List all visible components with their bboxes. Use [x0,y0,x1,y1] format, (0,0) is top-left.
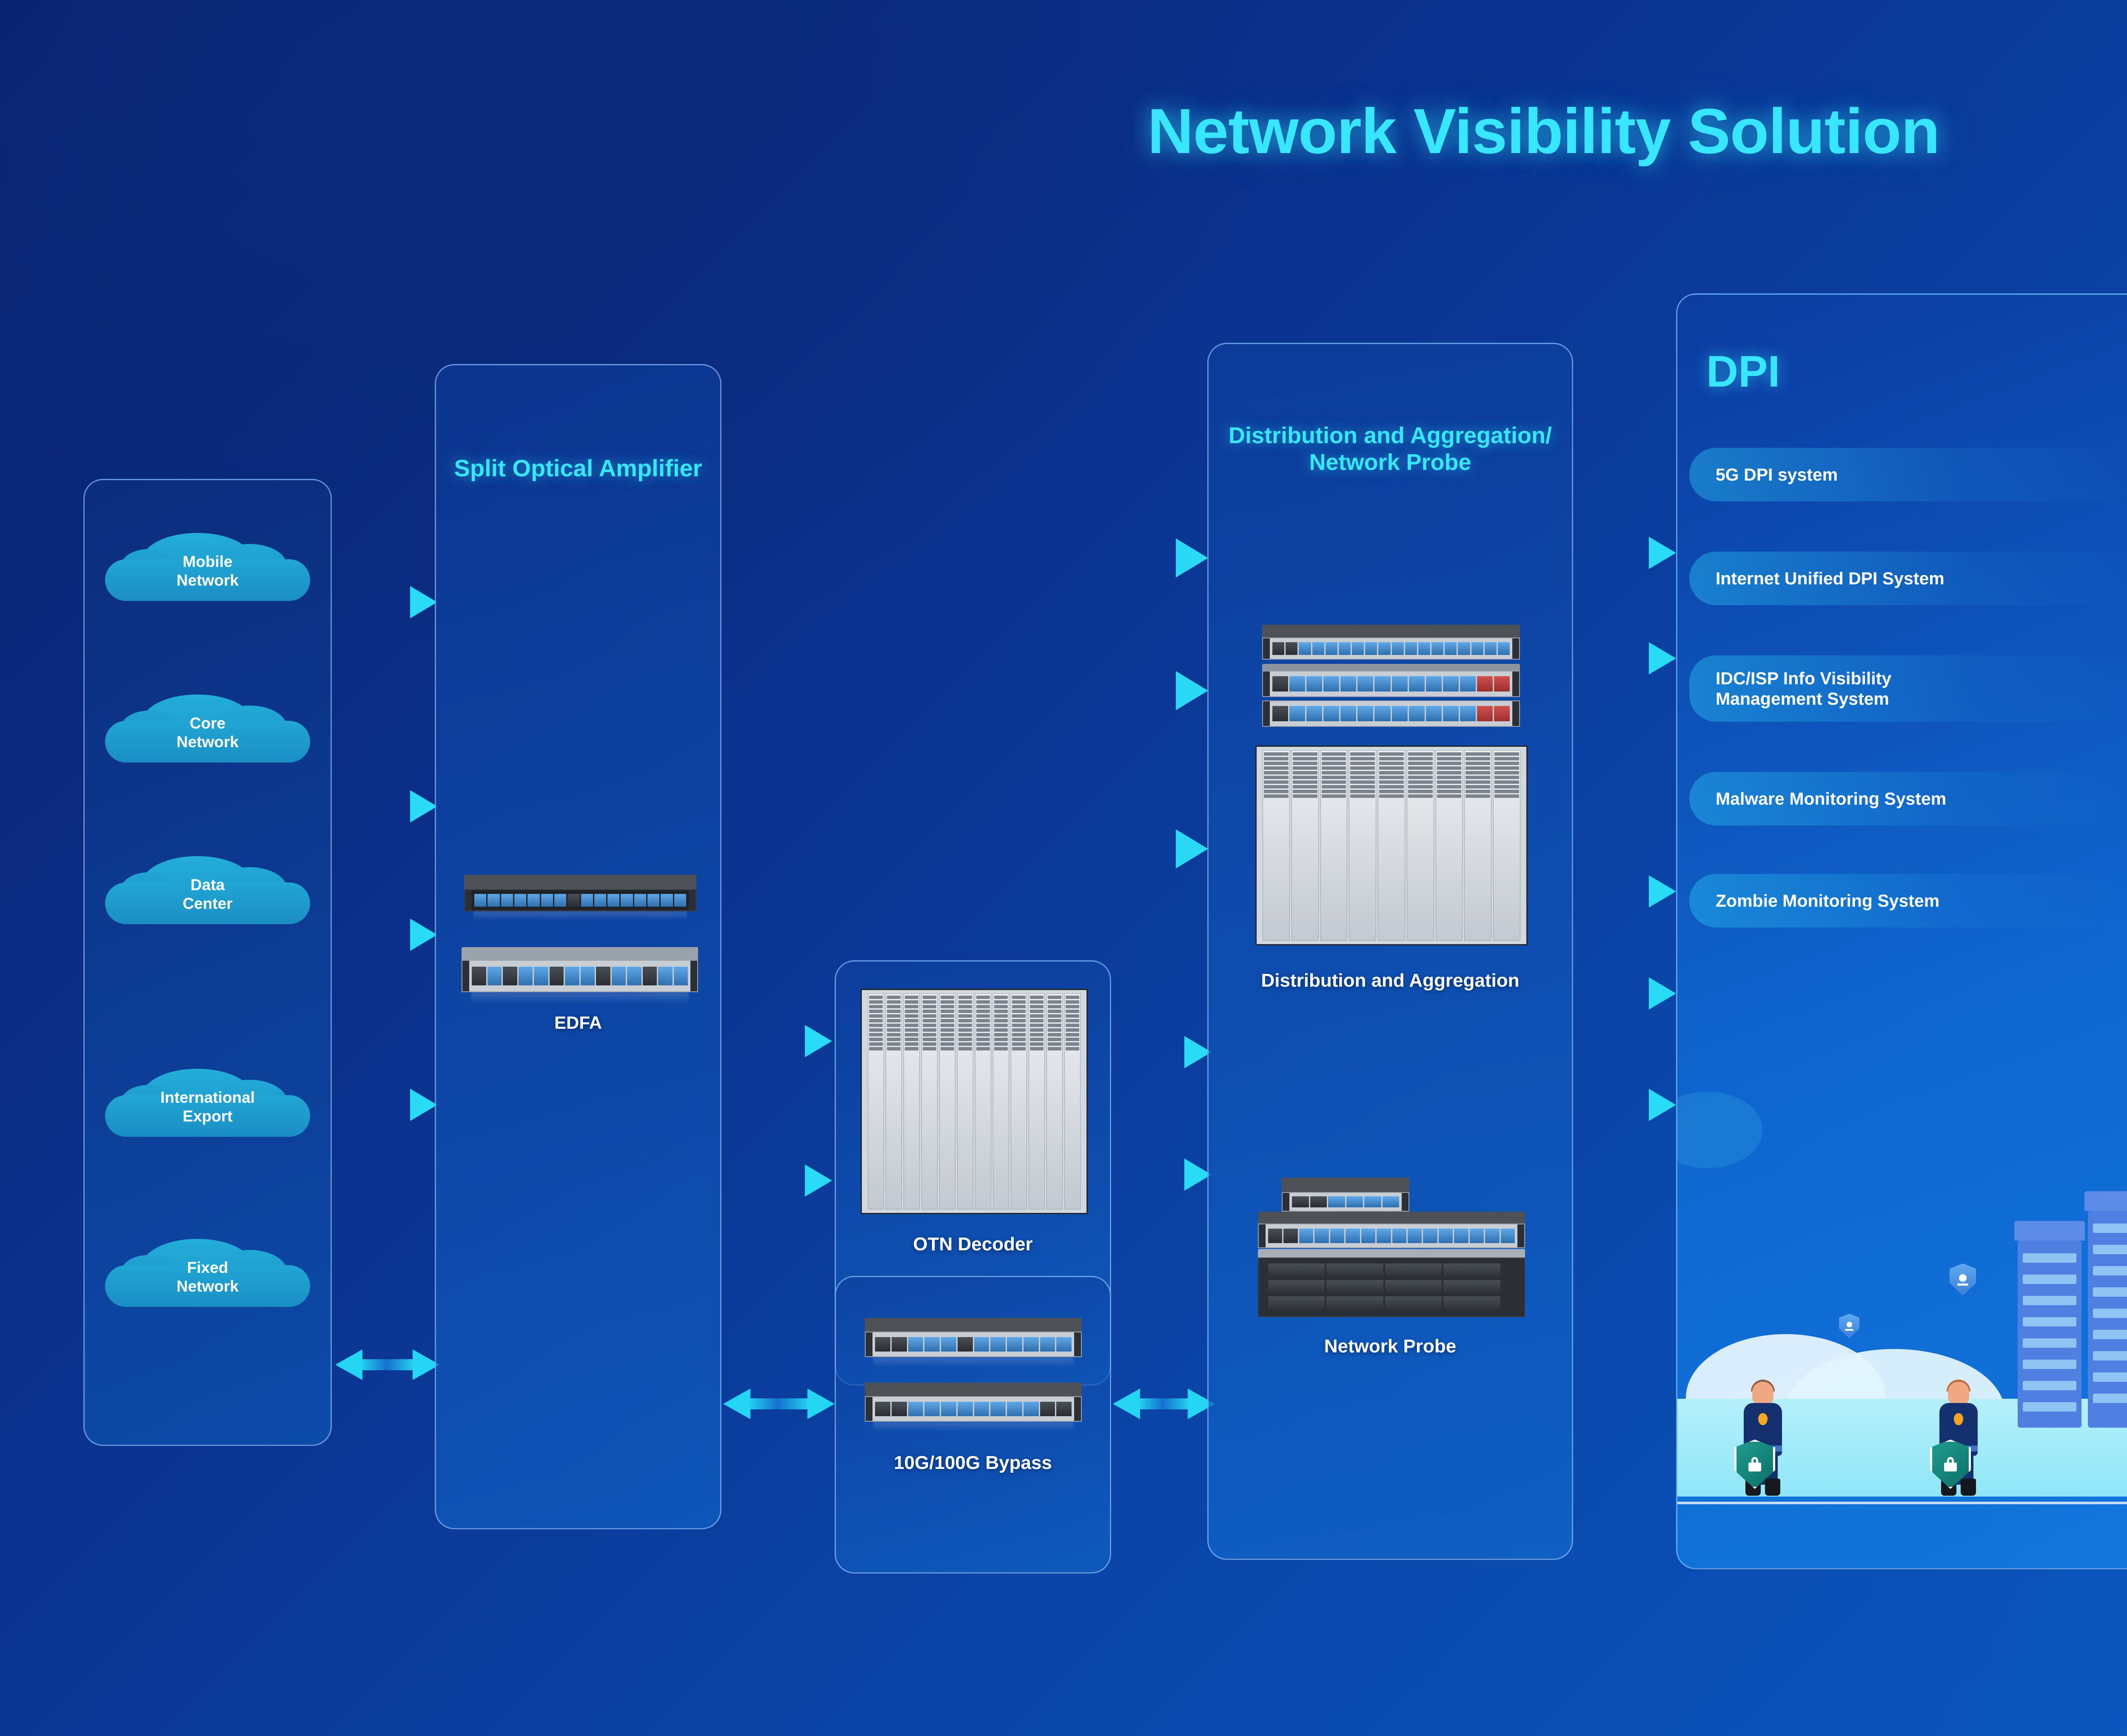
cloud-core-network[interactable]: Core Network [105,694,310,766]
split-optical-title: Split Optical Amplifier [436,455,720,482]
cloud-label: Core Network [105,694,310,766]
dpi-illustration [1677,1079,2127,1568]
page-title: Network Visibility Solution [0,94,2127,168]
aggregation-switch-2 [1262,664,1520,728]
dpi-system-row[interactable]: IDC/ISP Info Visibility Management Syste… [1689,655,2127,722]
dpi-system-row[interactable]: Zombie Monitoring System [1689,874,2127,928]
flow-arrow-datacenter [339,919,437,951]
flow-arrow-amp-dist-1 [766,538,1208,578]
dpi-system-label: Malware Monitoring System [1716,788,1946,809]
flow-arrow-otn-dist-2 [1117,1158,1212,1191]
bypass-panel: 10G/100G Bypass [835,1276,1111,1574]
network-sources-panel: Mobile Network Core Network Data Center … [83,479,332,1446]
aggregation-switch-1 [1262,625,1520,660]
cloud-label: Data Center [105,856,310,928]
distribution-title: Distribution and Aggregation/ Network Pr… [1209,422,1572,475]
server-rack [2088,1211,2127,1428]
dpi-system-label: Zombie Monitoring System [1716,891,1939,911]
security-guard [1737,1382,1787,1496]
flow-arrow-dist-dpi-3 [1580,875,1676,908]
cloud-fixed-network[interactable]: Fixed Network [105,1239,310,1310]
security-guard [1933,1382,1983,1496]
cloud-mobile-network[interactable]: Mobile Network [105,533,310,604]
cloud-label: Fixed Network [105,1239,310,1310]
network-probe-storage [1258,1249,1525,1317]
edfa-label: EDFA [436,1013,720,1033]
cloud-label: International Export [105,1069,310,1140]
bypass-device-lower [865,1383,1082,1422]
flow-arrow-amp-dist-2 [766,671,1208,710]
dpi-panel: DPI 5G DPI system Internet Unified DPI S… [1676,293,2127,1569]
flow-arrow-dist-dpi-4 [1580,977,1676,1010]
cloud-label: Mobile Network [105,533,310,604]
flow-arrow-dist-dpi-1 [1580,537,1676,569]
flow-arrow-intl [339,1089,437,1121]
dpi-system-row[interactable]: 5G DPI system [1689,448,2127,501]
dpi-system-row[interactable]: Malware Monitoring System [1689,772,2127,825]
flow-arrow-dist-dpi-2 [1580,642,1676,674]
dpi-title: DPI [1706,347,1780,397]
optical-splitter-device [464,875,696,911]
diagram-canvas: Network Visibility Solution Mobile Netwo… [0,0,2127,1736]
flow-arrow-core [339,790,437,822]
distribution-device-label: Distribution and Aggregation [1209,969,1572,992]
flow-arrow-amp-otn-1 [728,1025,832,1057]
bypass-device-upper [865,1318,1082,1357]
otn-decoder-label: OTN Decoder [836,1234,1110,1255]
user-shield-icon [1839,1314,1859,1338]
flow-biarrow-fixed [335,1349,440,1380]
flow-arrow-amp-dist-3 [766,829,1208,868]
dpi-system-label: 5G DPI system [1716,464,1838,485]
network-probe-small [1282,1178,1409,1212]
otn-decoder-device [861,989,1088,1214]
server-rack [2018,1241,2081,1428]
aggregation-chassis [1255,746,1528,945]
user-shield-icon [1950,1264,1976,1296]
bypass-label: 10G/100G Bypass [836,1452,1110,1474]
flow-biarrow-amp-bypass [723,1388,835,1420]
flow-arrow-amp-otn-2 [728,1164,832,1197]
cloud-international-export[interactable]: International Export [105,1069,310,1140]
flow-biarrow-bypass-dist [1113,1388,1215,1420]
dpi-system-label: IDC/ISP Info Visibility Management Syste… [1716,668,1891,709]
edfa-device [462,947,698,992]
dpi-system-row[interactable]: Internet Unified DPI System [1689,552,2127,605]
dpi-system-label: Internet Unified DPI System [1716,568,1945,589]
split-optical-amplifier-panel: Split Optical Amplifier [435,364,721,1529]
distribution-aggregation-panel: Distribution and Aggregation/ Network Pr… [1207,343,1573,1560]
network-probe-label: Network Probe [1209,1336,1572,1357]
flow-arrow-mobile [339,586,437,618]
cloud-data-center[interactable]: Data Center [105,856,310,928]
network-probe-switch [1258,1212,1525,1248]
flow-arrow-dist-dpi-5 [1580,1089,1676,1121]
flow-arrow-otn-dist-1 [1117,1036,1212,1068]
